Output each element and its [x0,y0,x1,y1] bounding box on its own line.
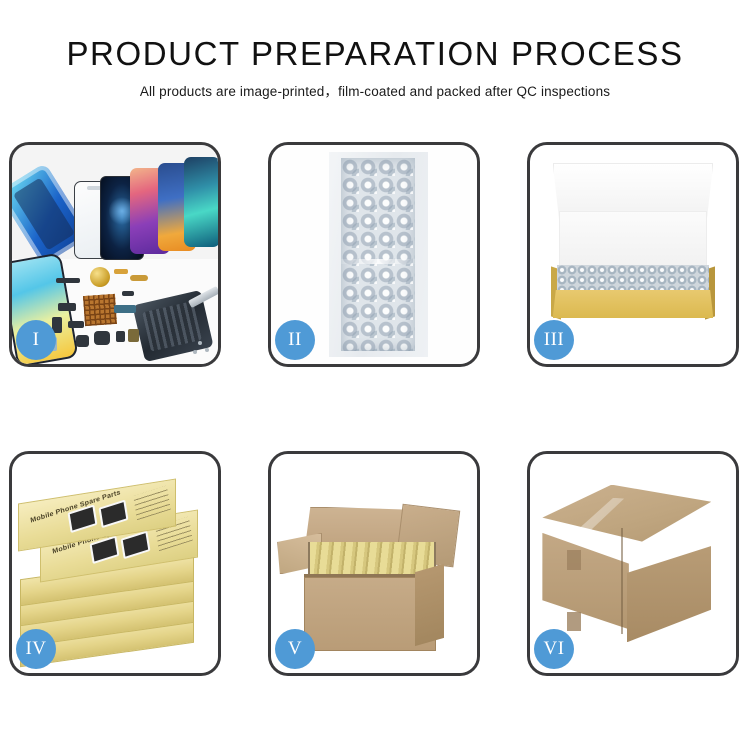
spare-part-icon [94,331,110,345]
step-badge-2: II [275,320,315,360]
step-badge-1: I [16,320,56,360]
process-step-panel-6: VI [527,451,739,676]
bubble-wrap-icon [341,158,415,351]
step-badge-5: V [275,629,315,669]
process-step-panel-3: III [527,142,739,367]
screw-icon [198,341,202,345]
carton-handle-notch-icon [567,550,581,570]
wrap-seam-icon [341,259,415,264]
carton-edge-icon [621,528,623,633]
carton-side-icon [415,564,444,647]
carton-face-left-icon [542,533,629,629]
process-step-grid: I II [9,142,742,676]
box-product-image-icon [121,531,151,560]
spare-part-icon [114,305,136,313]
spare-part-icon [58,303,76,311]
process-step-panel-4: Mobile Phone Spare Parts Mobile Phone Sp… [9,451,221,676]
process-step-panel-2: II [268,142,480,367]
product-preparation-infographic: PRODUCT PREPARATION PROCESS All products… [0,0,750,750]
box-front-panel-icon [553,290,714,318]
box-spec-text-icon [133,486,171,521]
step-badge-3: III [534,320,574,360]
speaker-coil-icon [90,267,110,287]
box-stack: Mobile Phone Spare Parts Mobile Phone Sp… [16,485,214,656]
process-step-panel-1: I [9,142,221,367]
spare-part-icon [122,291,134,296]
carton-handle-notch-icon [567,612,581,632]
spare-part-icon [114,269,128,274]
spare-part-icon [130,275,148,281]
spare-part-icon [128,329,139,342]
carton-face-right-icon [627,546,711,642]
carton-top-icon [542,485,711,542]
spare-part-icon [68,321,84,328]
box-product-image-icon [99,500,129,529]
screw-icon [193,350,197,354]
screw-icon [205,348,209,352]
phone-screen-teal-icon [184,157,218,247]
page-subtitle: All products are image-printed，film-coat… [0,83,750,101]
step-badge-4: IV [16,629,56,669]
step-badge-6: VI [534,629,574,669]
chip-array-icon [83,294,117,326]
header: PRODUCT PREPARATION PROCESS All products… [0,34,750,101]
spare-part-icon [116,331,125,342]
page-title: PRODUCT PREPARATION PROCESS [0,34,750,74]
spare-part-icon [56,278,80,283]
spare-part-icon [76,335,89,347]
process-step-panel-5: V [268,451,480,676]
